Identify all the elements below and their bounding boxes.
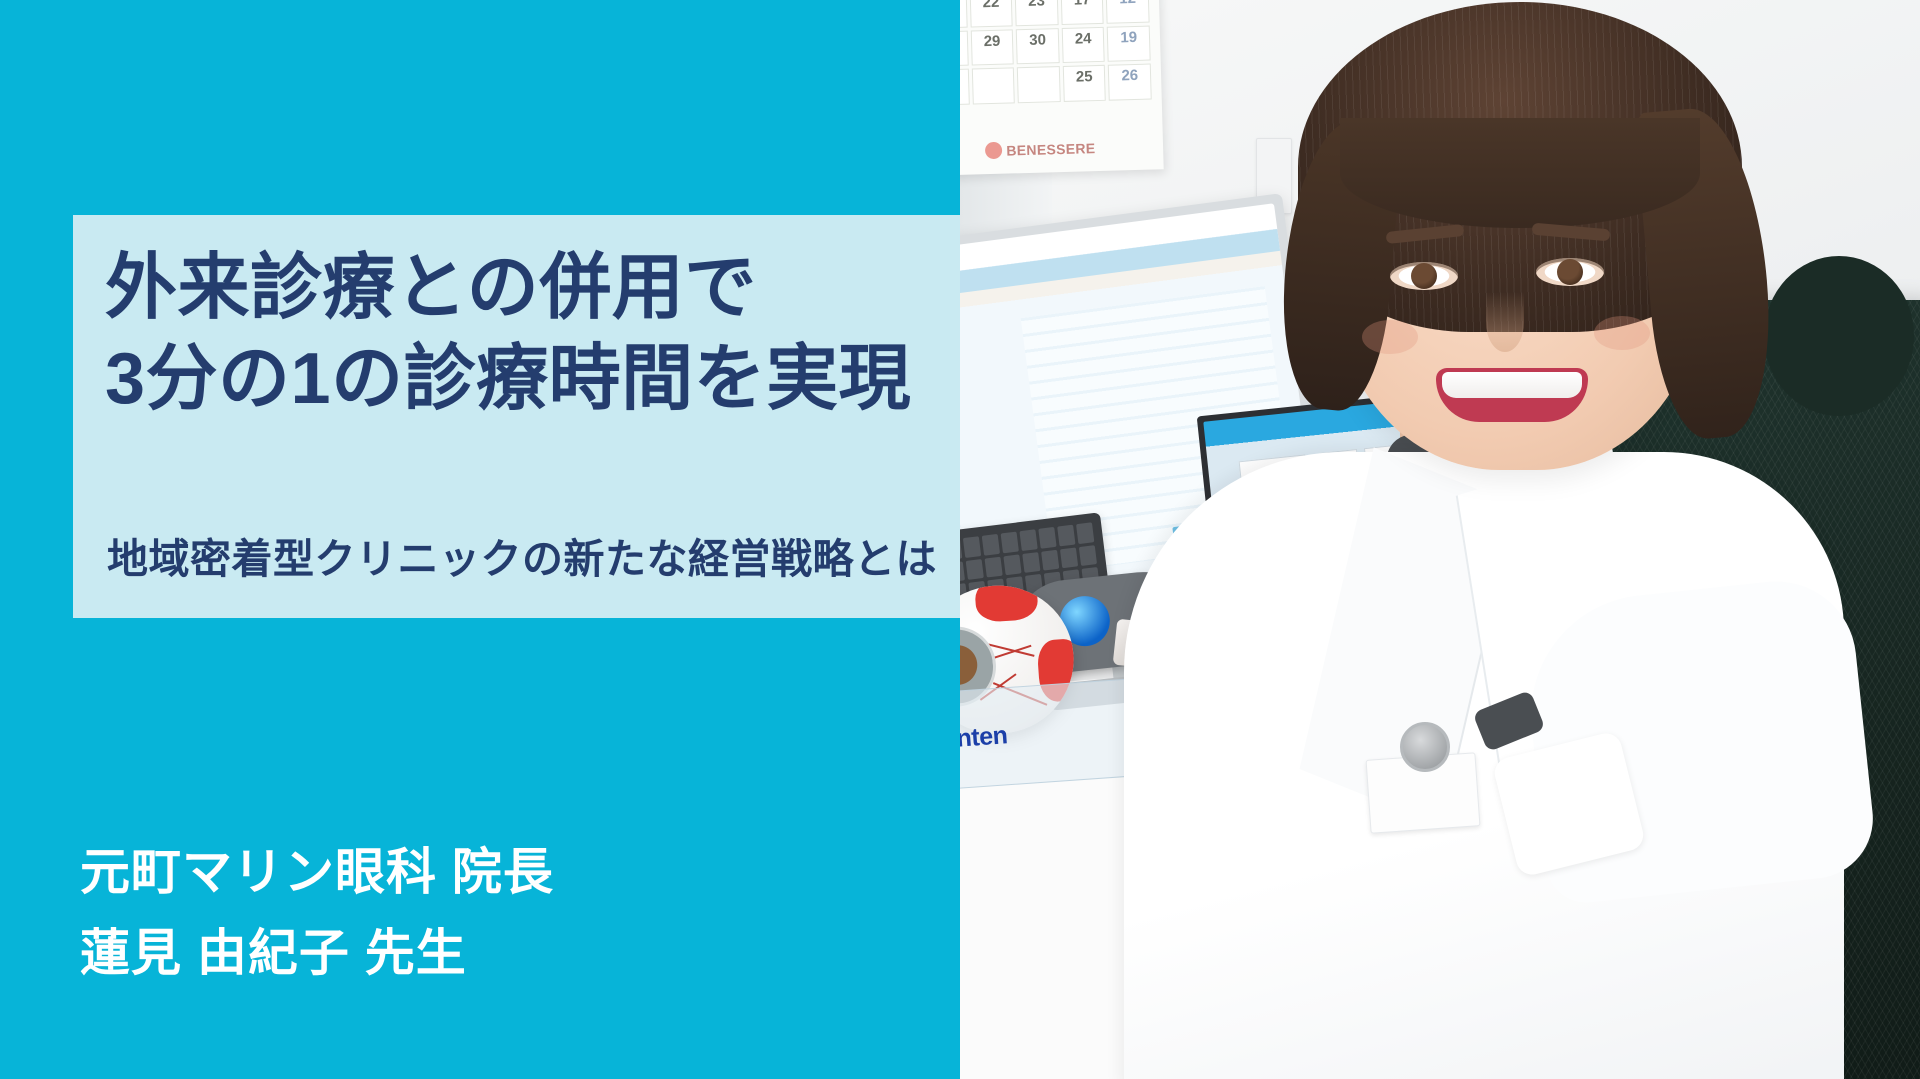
calendar-cell: 30	[1016, 28, 1060, 65]
calendar-cell: 22	[969, 0, 1013, 27]
teeth	[1442, 372, 1582, 398]
calendar-cell	[960, 69, 970, 106]
eye-red-marking	[974, 581, 1039, 623]
calendar-cell: 28	[960, 30, 968, 67]
iris	[1411, 263, 1437, 289]
smiling-mouth	[1436, 368, 1588, 422]
eye-right	[1536, 258, 1604, 286]
speaker-credit: 元町マリン眼科 院長 蓮見 由紀子 先生	[80, 832, 980, 994]
calendar-sponsor-logos: KYOWA BENESSERE	[960, 137, 1096, 163]
cheek-right	[1594, 316, 1650, 350]
calendar-cell: 21	[960, 0, 967, 29]
benessere-logo: BENESSERE	[985, 139, 1095, 159]
speaker-name: 蓮見 由紀子 先生	[80, 913, 980, 994]
nose	[1486, 292, 1524, 352]
headline-line-2: 3分の1の診療時間を実現	[105, 334, 1405, 425]
headline-line-1: 外来診療との併用で	[105, 243, 1405, 334]
hair-bangs	[1340, 118, 1700, 228]
calendar-cell: 17	[1060, 0, 1104, 25]
speaker-affiliation: 元町マリン眼科 院長	[80, 832, 980, 913]
calendar-cell: 24	[1062, 27, 1106, 64]
calendar-cell: 29	[970, 29, 1014, 66]
subtitle: 地域密着型クリニックの新たな経営戦略とは	[107, 525, 1407, 585]
headline: 外来診療との併用で 3分の1の診療時間を実現	[105, 243, 1405, 424]
wristwatch-face	[1400, 722, 1450, 772]
calendar-cell	[972, 68, 1016, 105]
calendar-cell	[1017, 66, 1061, 103]
santen-logo: Santen	[960, 721, 1008, 756]
iris	[1557, 259, 1583, 285]
chair-headrest	[1764, 256, 1914, 416]
calendar-cell: 23	[1015, 0, 1059, 26]
title-card-canvas: 6 7 8 9 10 4 13 14 15 16 11 5 20 21	[0, 0, 1920, 1079]
